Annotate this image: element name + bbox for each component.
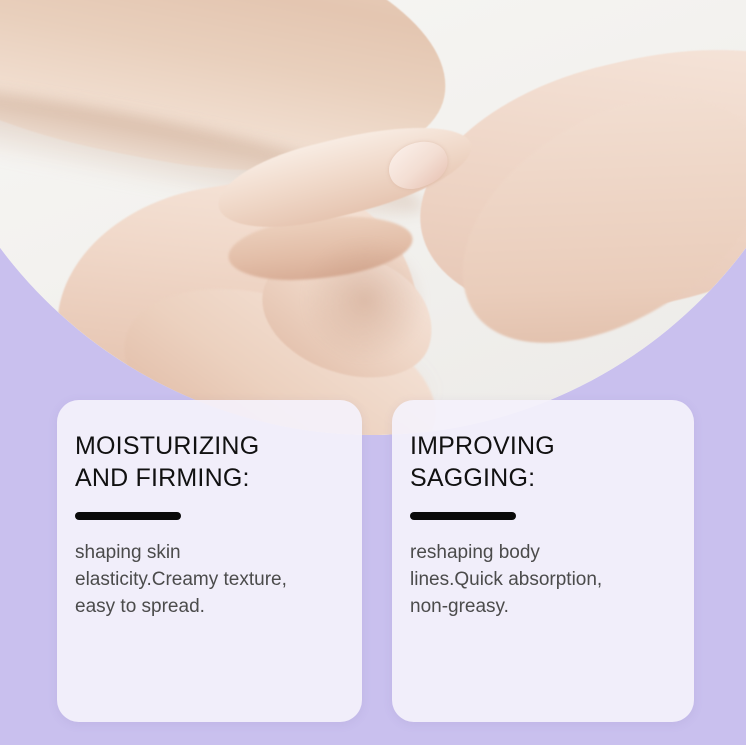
benefit-card-moisturizing-and-firming: MOISTURIZING AND FIRMING: shaping skin e… <box>57 400 362 722</box>
benefit-card-body: reshaping body lines.Quick absorption, n… <box>410 540 676 621</box>
title-divider-rule <box>75 512 181 520</box>
title-divider-rule <box>410 512 516 520</box>
benefit-card-improving-sagging: IMPROVING SAGGING: reshaping body lines.… <box>392 400 694 722</box>
benefit-card-title: IMPROVING SAGGING: <box>410 430 676 494</box>
product-benefit-poster: MOISTURIZING AND FIRMING: shaping skin e… <box>0 0 746 745</box>
benefit-card-body: shaping skin elasticity.Creamy texture, … <box>75 540 344 621</box>
benefit-card-title: MOISTURIZING AND FIRMING: <box>75 430 344 494</box>
benefit-card-list: MOISTURIZING AND FIRMING: shaping skin e… <box>0 0 746 745</box>
